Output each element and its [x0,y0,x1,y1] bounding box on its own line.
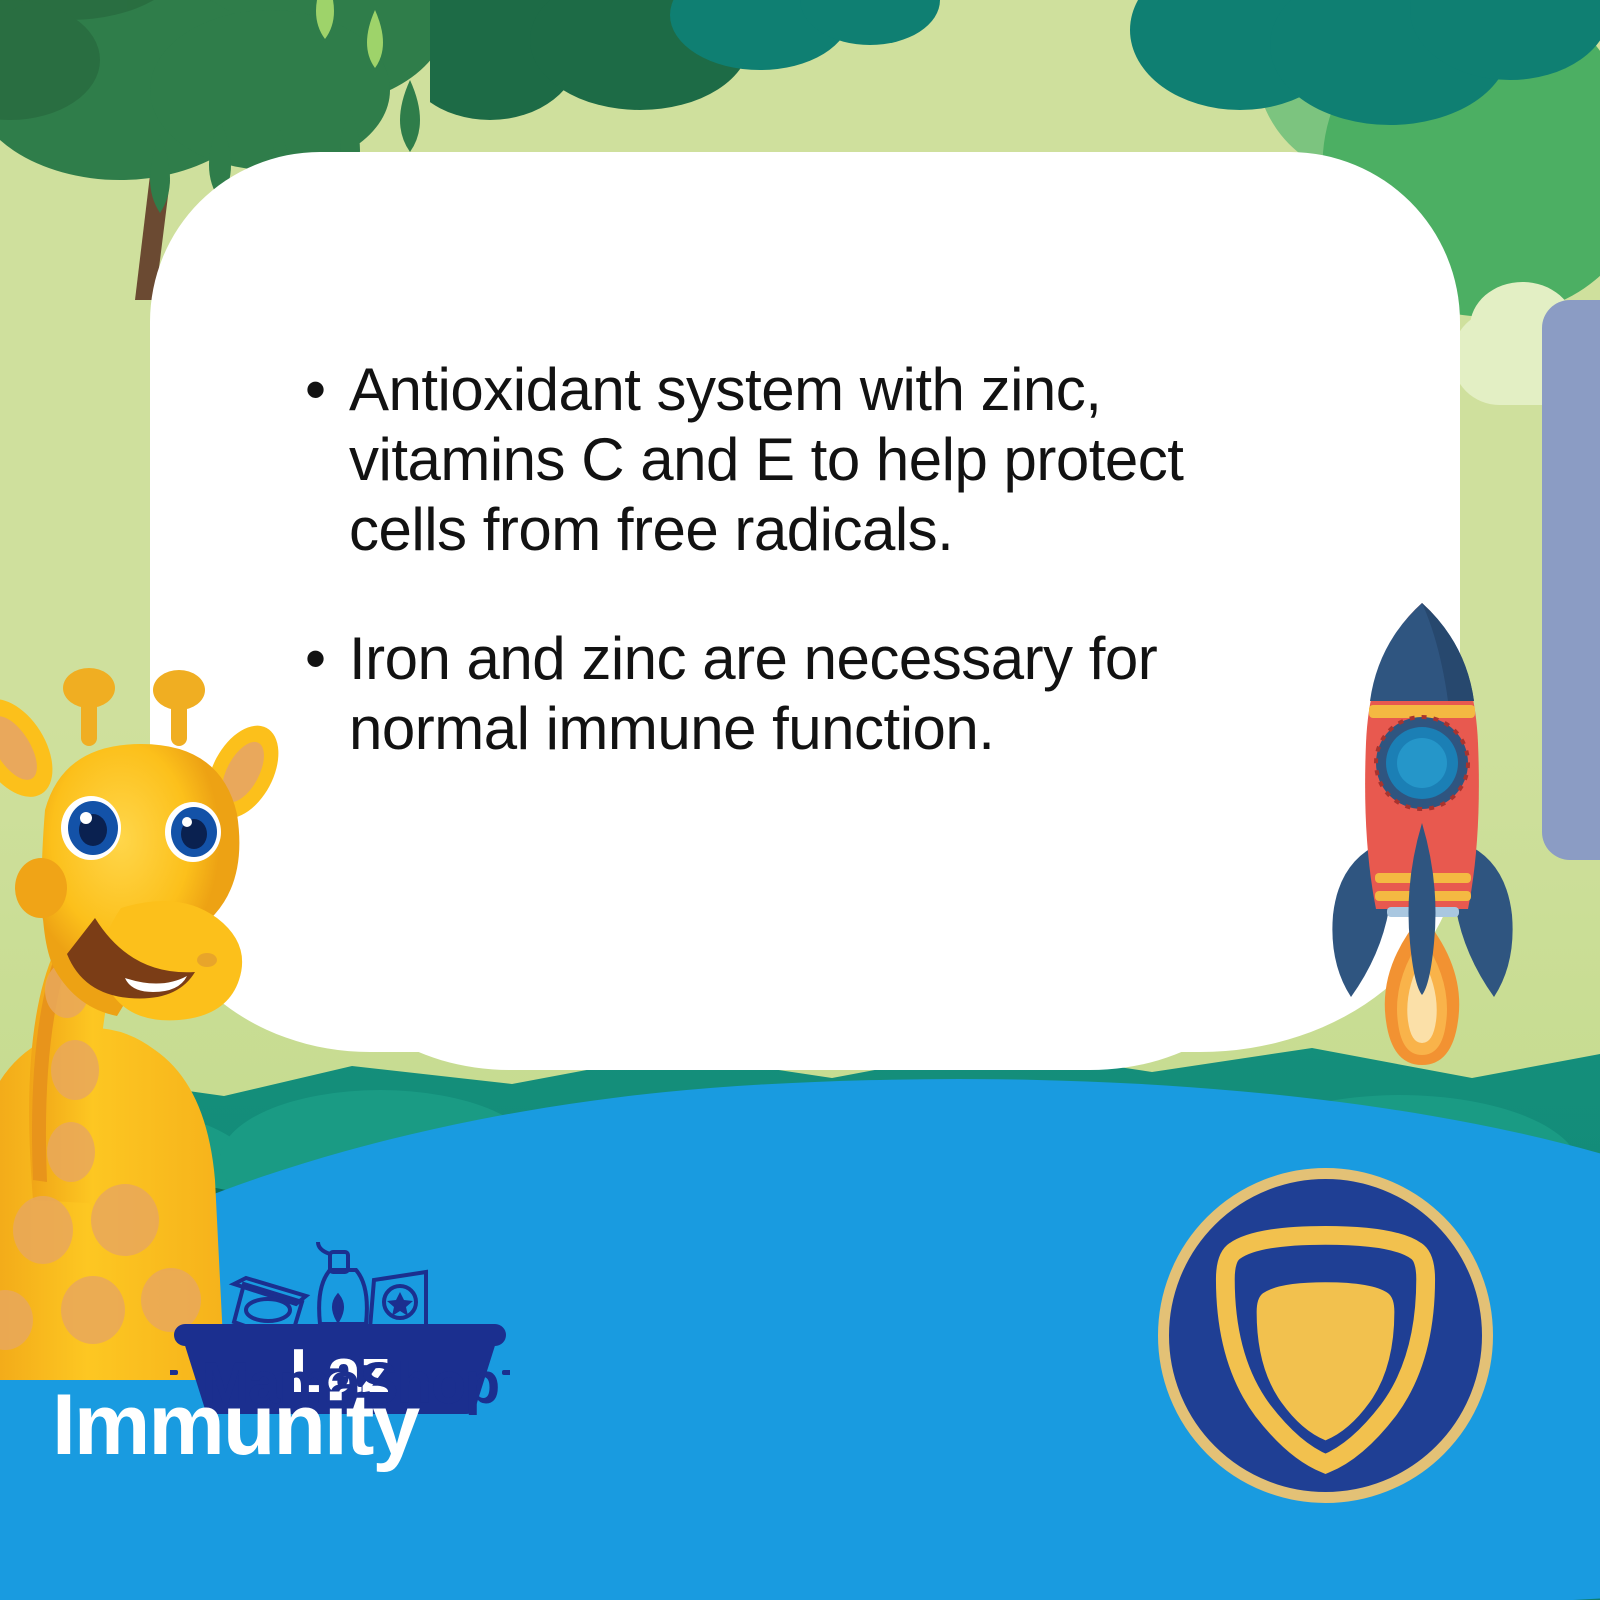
list-item: • Iron and zinc are necessary for normal… [305,624,1265,764]
tree-top-middle-icon [430,0,1050,150]
shield-icon [1169,1179,1482,1492]
rocket-illustration-icon [1315,585,1530,1065]
poster-canvas: • Antioxidant system with zinc, vitamins… [0,0,1600,1600]
bullet-marker-icon: • [305,355,349,566]
list-item: • Antioxidant system with zinc, vitamins… [305,355,1265,566]
benefits-list: • Antioxidant system with zinc, vitamins… [305,355,1265,764]
bullet-marker-icon: • [305,624,349,764]
status-badge [1158,1168,1493,1503]
bullet-text: Antioxidant system with zinc, vitamins C… [349,355,1265,566]
bullet-text: Iron and zinc are necessary for normal i… [349,624,1265,764]
immunity-label: Immunity [52,1382,418,1468]
right-edge-strip [1542,300,1600,860]
content-card-tail [330,940,1270,1070]
